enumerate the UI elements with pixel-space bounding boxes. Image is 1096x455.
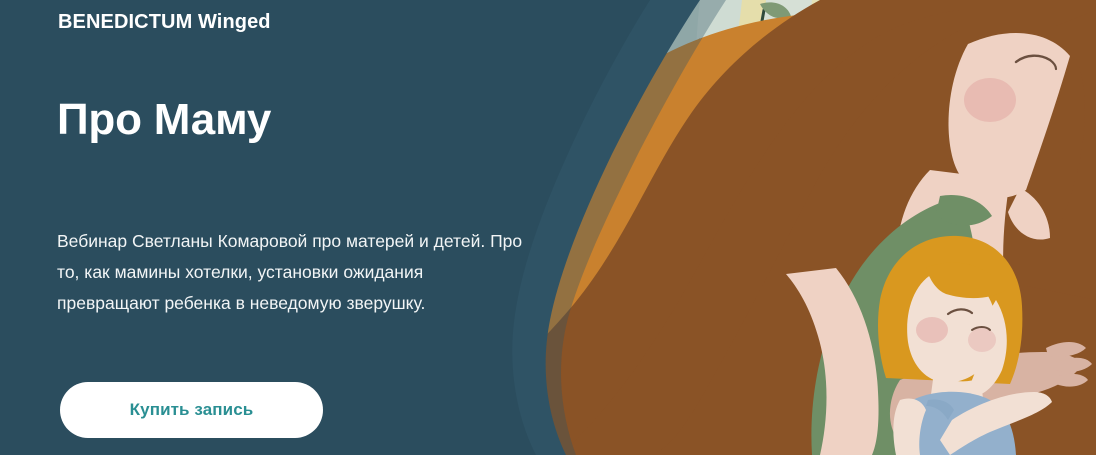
hero-banner: BENEDICTUM Winged Про Маму Вебинар Светл… [0,0,1096,455]
hero-description: Вебинар Светланы Комаровой про матерей и… [57,226,527,319]
hero-content: BENEDICTUM Winged Про Маму Вебинар Светл… [0,0,520,455]
brand-name: BENEDICTUM Winged [58,11,271,34]
page-title: Про Маму [57,96,271,144]
buy-recording-button[interactable]: Купить запись [60,382,323,438]
